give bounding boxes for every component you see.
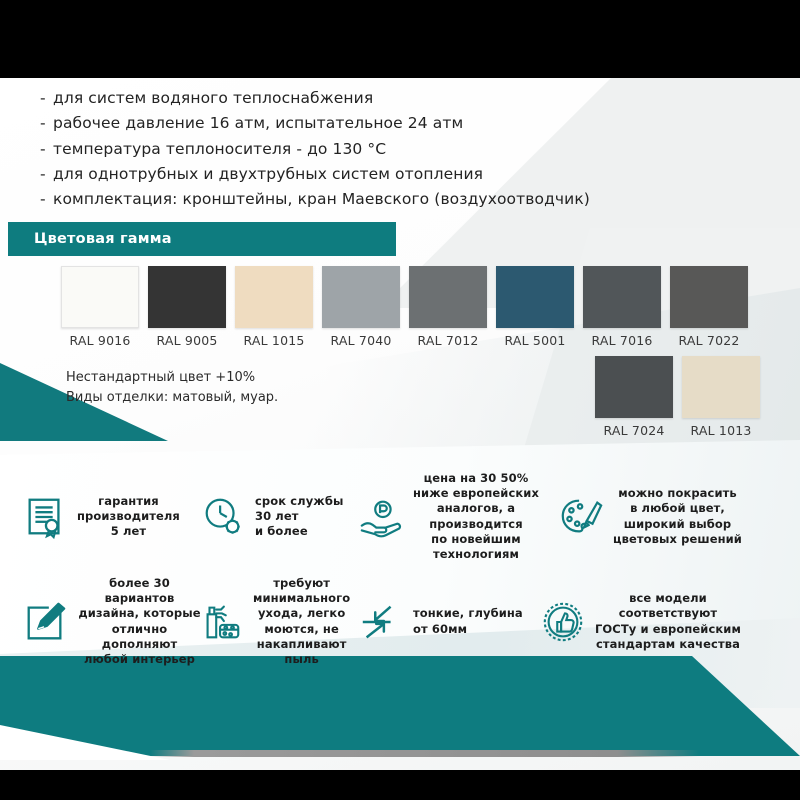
feature-text-line: 5 лет xyxy=(77,524,180,539)
bullet-marker: - xyxy=(40,111,53,136)
feature-text-line: от 60мм xyxy=(413,622,523,637)
feature-row-2: более 30вариантовдизайна, которыеотлично… xyxy=(0,569,800,674)
color-swatch[interactable]: RAL 7024 xyxy=(592,356,676,438)
color-swatch-chip xyxy=(235,266,313,328)
color-swatch-label: RAL 7022 xyxy=(667,333,751,348)
spray-sponge-icon xyxy=(198,599,244,645)
spec-item-text: для систем водяного теплоснабжения xyxy=(53,86,373,111)
spec-item: - рабочее давление 16 атм, испытательное… xyxy=(40,111,640,136)
feature-text: цена на 30 50%ниже европейскиханалогов, … xyxy=(413,471,539,563)
color-swatch-chip xyxy=(409,266,487,328)
color-swatch-chip xyxy=(496,266,574,328)
feature-text-line: ГОСТу и европейским xyxy=(595,622,741,637)
feature-text-line: технологиям xyxy=(413,547,539,562)
color-swatch[interactable]: RAL 7012 xyxy=(406,266,490,348)
color-note: Нестандартный цвет +10% xyxy=(66,368,278,388)
color-swatch[interactable]: RAL 9005 xyxy=(145,266,229,348)
feature-section: гарантияпроизводителя5 летсрок службы30 … xyxy=(0,464,800,674)
spec-list: - для систем водяного теплоснабжения - р… xyxy=(40,86,640,212)
color-swatch-chip xyxy=(670,266,748,328)
color-section-header: Цветовая гамма xyxy=(8,222,396,256)
color-note: Виды отделки: матовый, муар. xyxy=(66,388,278,408)
color-swatch[interactable]: RAL 9016 xyxy=(58,266,142,348)
certificate-icon xyxy=(22,494,68,540)
color-swatch[interactable]: RAL 1015 xyxy=(232,266,316,348)
feature-text-line: ухода, легко xyxy=(253,606,350,621)
feature-item: тонкие, глубинаот 60мм xyxy=(358,569,530,674)
spec-item: - для однотрубных и двухтрубных систем о… xyxy=(40,162,640,187)
spec-item: - температура теплоносителя - до 130 °С xyxy=(40,137,640,162)
feature-text-line: 30 лет xyxy=(255,509,343,524)
color-swatch-chip xyxy=(148,266,226,328)
feature-text: тонкие, глубинаот 60мм xyxy=(413,606,523,637)
color-swatch-chip xyxy=(322,266,400,328)
feature-text-line: вариантов xyxy=(77,591,202,606)
feature-text-line: производится xyxy=(413,517,539,532)
color-swatch[interactable]: RAL 1013 xyxy=(679,356,763,438)
feature-row-1: гарантияпроизводителя5 летсрок службы30 … xyxy=(0,464,800,569)
feature-text-line: требуют xyxy=(253,576,350,591)
color-swatch-label: RAL 9005 xyxy=(145,333,229,348)
color-swatch[interactable]: RAL 5001 xyxy=(493,266,577,348)
feature-text-line: минимального xyxy=(253,591,350,606)
feature-item: гарантияпроизводителя5 лет xyxy=(22,464,194,569)
feature-text-line: цветовых решений xyxy=(613,532,742,547)
spec-item-text: комплектация: кронштейны, кран Маевского… xyxy=(53,187,590,212)
feature-text: требуютминимальногоухода, легкомоются, н… xyxy=(253,576,350,668)
feature-text-line: дизайна, которые xyxy=(77,606,202,621)
clock-gear-icon xyxy=(200,494,246,540)
color-notes: Нестандартный цвет +10% Виды отделки: ма… xyxy=(66,368,278,408)
feature-text-line: производителя xyxy=(77,509,180,524)
palette-brush-icon xyxy=(558,494,604,540)
feature-text: более 30вариантовдизайна, которыеотлично… xyxy=(77,576,202,668)
color-swatch[interactable]: RAL 7022 xyxy=(667,266,751,348)
spec-item: - для систем водяного теплоснабжения xyxy=(40,86,640,111)
feature-text: срок службы30 лети более xyxy=(255,494,343,540)
feature-item: более 30вариантовдизайна, которыеотлично… xyxy=(22,569,202,674)
spec-item: - комплектация: кронштейны, кран Маевско… xyxy=(40,187,640,212)
feature-text-line: тонкие, глубина xyxy=(413,606,523,621)
color-swatch-chip xyxy=(61,266,139,328)
feature-text-line: ниже европейских xyxy=(413,486,539,501)
color-swatch[interactable]: RAL 7040 xyxy=(319,266,403,348)
feature-text-line: в любой цвет, xyxy=(613,501,742,516)
bullet-marker: - xyxy=(40,187,53,212)
feature-text-line: гарантия xyxy=(77,494,180,509)
feature-text-line: все модели xyxy=(595,591,741,606)
content-canvas: - для систем водяного теплоснабжения - р… xyxy=(0,78,800,770)
feature-text-line: накапливают xyxy=(253,637,350,652)
depth-arrows-icon xyxy=(358,599,404,645)
feature-text: можно покраситьв любой цвет,широкий выбо… xyxy=(613,486,742,547)
color-swatch-label: RAL 1015 xyxy=(232,333,316,348)
color-swatch-label: RAL 7040 xyxy=(319,333,403,348)
feature-text: все моделисоответствуютГОСТу и европейск… xyxy=(595,591,741,652)
color-swatch-label: RAL 7012 xyxy=(406,333,490,348)
feature-text-line: можно покрасить xyxy=(613,486,742,501)
feature-text-line: стандартам качества xyxy=(595,637,741,652)
pencil-icon xyxy=(22,599,68,645)
color-swatch-label: RAL 7016 xyxy=(580,333,664,348)
feature-item: можно покраситьв любой цвет,широкий выбо… xyxy=(558,464,758,569)
feature-text-line: пыль xyxy=(253,652,350,667)
color-swatch-chip xyxy=(583,266,661,328)
feature-text-line: цена на 30 50% xyxy=(413,471,539,486)
feature-item: требуютминимальногоухода, легкомоются, н… xyxy=(198,569,358,674)
color-swatch-chip xyxy=(682,356,760,418)
feature-item: все моделисоответствуютГОСТу и европейск… xyxy=(540,569,760,674)
bullet-marker: - xyxy=(40,137,53,162)
bullet-marker: - xyxy=(40,86,53,111)
feature-item: срок службы30 лети более xyxy=(200,464,350,569)
feature-text-line: по новейшим xyxy=(413,532,539,547)
feature-text-line: и более xyxy=(255,524,343,539)
feature-text-line: более 30 xyxy=(77,576,202,591)
feature-text-line: моются, не xyxy=(253,622,350,637)
quality-badge-icon xyxy=(540,599,586,645)
swatch-row-1: RAL 9016RAL 9005RAL 1015RAL 7040RAL 7012… xyxy=(58,266,754,348)
decor-band-shadow xyxy=(150,750,700,757)
color-section-title: Цветовая гамма xyxy=(34,231,172,247)
spec-item-text: рабочее давление 16 атм, испытательное 2… xyxy=(53,111,463,136)
feature-text-line: любой интерьер xyxy=(77,652,202,667)
feature-text-line: срок службы xyxy=(255,494,343,509)
bullet-marker: - xyxy=(40,162,53,187)
color-swatch-label: RAL 7024 xyxy=(592,423,676,438)
feature-item: цена на 30 50%ниже европейскиханалогов, … xyxy=(358,464,540,569)
color-swatch[interactable]: RAL 7016 xyxy=(580,266,664,348)
hand-ruble-icon xyxy=(358,494,404,540)
spec-item-text: температура теплоносителя - до 130 °С xyxy=(53,137,386,162)
swatch-row-2: RAL 7024RAL 1013 xyxy=(592,356,766,438)
spec-item-text: для однотрубных и двухтрубных систем ото… xyxy=(53,162,483,187)
color-swatch-label: RAL 1013 xyxy=(679,423,763,438)
color-swatch-label: RAL 9016 xyxy=(58,333,142,348)
feature-text-line: аналогов, а xyxy=(413,501,539,516)
color-swatch-chip xyxy=(595,356,673,418)
feature-text-line: широкий выбор xyxy=(613,517,742,532)
color-swatch-label: RAL 5001 xyxy=(493,333,577,348)
slide-root: - для систем водяного теплоснабжения - р… xyxy=(0,0,800,800)
feature-text-line: соответствуют xyxy=(595,606,741,621)
feature-text: гарантияпроизводителя5 лет xyxy=(77,494,180,540)
feature-text-line: отлично дополняют xyxy=(77,622,202,653)
